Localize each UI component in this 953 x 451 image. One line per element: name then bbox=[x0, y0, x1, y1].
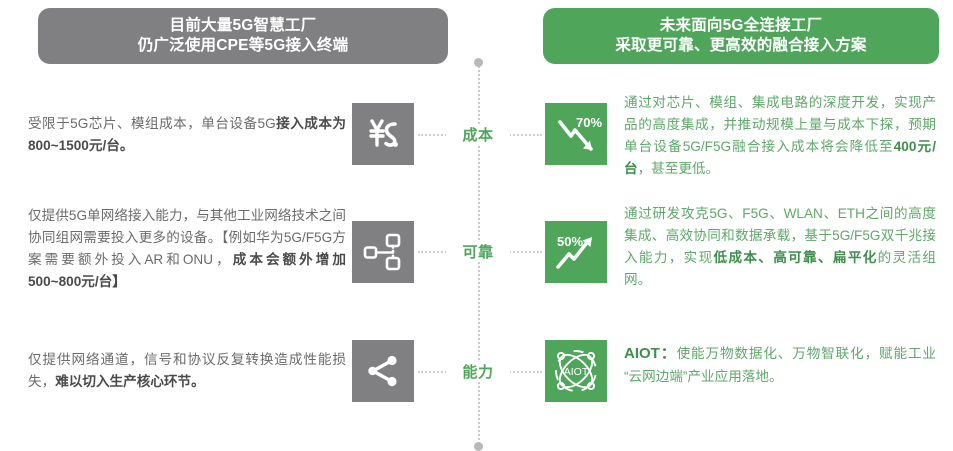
center-label-cost: 成本 bbox=[446, 124, 510, 145]
left-text-bold: 难以切入生产核心环节。 bbox=[55, 374, 205, 389]
left-description-capability: 仅提供网络通道，信号和协议反复转换造成性能损失，难以切入生产核心环节。 bbox=[28, 349, 346, 393]
right-text-pre: 通过对芯片、模组、集成电路的深度开发，实现产品的高度集成，并推动规模上量与成本下… bbox=[624, 95, 936, 154]
aiot-orbit-icon: AIOT bbox=[545, 340, 607, 402]
stat-tile-cost: 70% bbox=[545, 103, 607, 165]
left-description-cost: 受限于5G芯片、模组成本，单台设备5G接入成本为800~1500元/台。 bbox=[28, 113, 346, 157]
divider-dot-top bbox=[474, 58, 483, 67]
header-current-line1: 目前大量5G智慧工厂 bbox=[170, 16, 317, 36]
header-future-line2: 采取更可靠、更高效的融合接入方案 bbox=[615, 36, 866, 56]
right-text-post: ，甚至更低。 bbox=[638, 161, 720, 176]
header-current-line2: 仍广泛使用CPE等5G接入终端 bbox=[138, 36, 349, 56]
svg-text:AIOT: AIOT bbox=[564, 366, 589, 378]
header-future-state: 未来面向5G全连接工厂 采取更可靠、更高效的融合接入方案 bbox=[543, 8, 939, 64]
comparison-row-reliability: 仅提供5G单网络接入能力，与其他工业网络技术之间协同组网需要投入更多的设备。【例… bbox=[0, 203, 953, 313]
down-arrow-icon bbox=[545, 103, 607, 165]
left-description-reliability: 仅提供5G单网络接入能力，与其他工业网络技术之间协同组网需要投入更多的设备。【例… bbox=[28, 205, 346, 293]
center-label-capability: 能力 bbox=[446, 361, 510, 382]
share-nodes-icon bbox=[352, 340, 414, 402]
right-text-lead: AIOT： bbox=[624, 345, 677, 362]
right-description-cost: 通过对芯片、模组、集成电路的深度开发，实现产品的高度集成，并推动规模上量与成本下… bbox=[624, 92, 936, 180]
header-future-line1: 未来面向5G全连接工厂 bbox=[660, 16, 822, 36]
right-description-reliability: 通过研发攻克5G、F5G、WLAN、ETH之间的高度集成、高效协同和数据承载，基… bbox=[624, 203, 936, 291]
yen-currency-icon bbox=[352, 103, 414, 165]
right-text-bold: 低成本、高可靠、扁平化 bbox=[714, 250, 878, 265]
header-current-state: 目前大量5G智慧工厂 仍广泛使用CPE等5G接入终端 bbox=[38, 8, 448, 64]
up-arrow-icon bbox=[545, 221, 607, 283]
network-topology-icon bbox=[352, 221, 414, 283]
divider-dot-bottom bbox=[474, 442, 483, 451]
center-label-reliability: 可靠 bbox=[446, 241, 510, 262]
slide-root: 目前大量5G智慧工厂 仍广泛使用CPE等5G接入终端 未来面向5G全连接工厂 采… bbox=[0, 0, 953, 451]
comparison-row-capability: 仅提供网络通道，信号和协议反复转换造成性能损失，难以切入生产核心环节。 能力 bbox=[0, 334, 953, 420]
stat-tile-capability: AIOT bbox=[545, 340, 607, 402]
stat-tile-reliability: 50% bbox=[545, 221, 607, 283]
left-text-plain: 受限于5G芯片、模组成本，单台设备5G bbox=[28, 116, 276, 131]
comparison-row-cost: 受限于5G芯片、模组成本，单台设备5G接入成本为800~1500元/台。 成本 bbox=[0, 92, 953, 190]
right-description-capability: AIOT：使能万物数据化、万物智联化，赋能工业“云网边端”产业应用落地。 bbox=[624, 342, 936, 388]
